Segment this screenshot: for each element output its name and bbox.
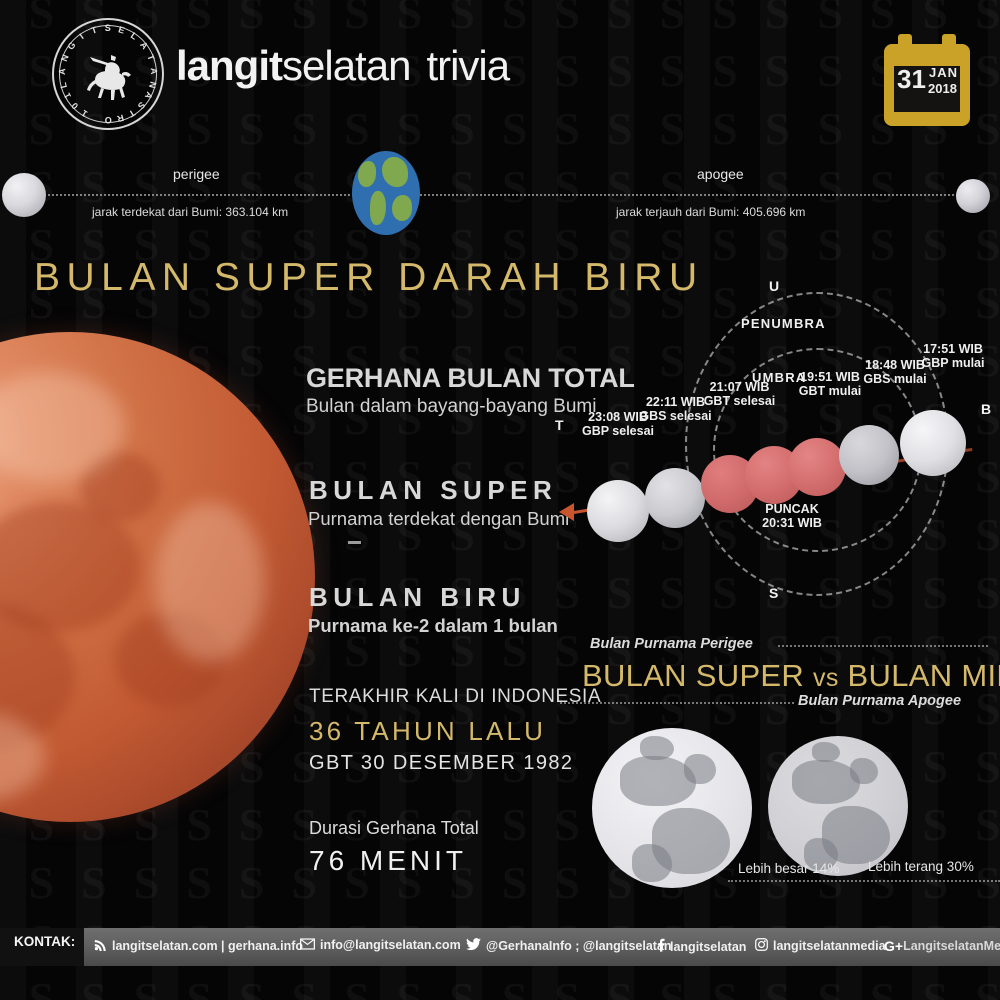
earth-landmass <box>358 161 376 187</box>
langitselatan-logo: LANGITSELATAN ASTRO 101 <box>52 18 164 130</box>
label-lebih-terang: Lebih terang 30% <box>868 859 974 874</box>
minimoon-graphic <box>768 736 908 876</box>
compare-labels-dotline <box>728 880 1000 882</box>
facebook-icon <box>657 938 665 955</box>
compare-title-right: BULAN MINI <box>848 658 1000 693</box>
marker-s: S <box>769 585 778 601</box>
logo-ring-char: A <box>143 90 155 101</box>
logo-ring-char: 1 <box>79 108 89 119</box>
footer-text-twitter: @GerhanaInfo ; @langitselatan <box>486 939 672 953</box>
calendar-body: 31 JAN 2018 <box>884 44 970 126</box>
logo-ring-char: T <box>127 108 137 120</box>
moon-phase-1848 <box>839 425 899 485</box>
feature-heading-bulan-super: BULAN SUPER <box>309 475 557 506</box>
orbit-dotted-line <box>36 194 966 196</box>
marker-u: U <box>769 278 779 294</box>
calendar-day: 31 <box>897 66 926 92</box>
phase-time-1751: 17:51 WIB <box>923 342 983 356</box>
perigee-apogee-band: perigee jarak terdekat dari Bumi: 363.10… <box>0 150 1000 242</box>
peak-time: 20:31 WIB <box>762 516 822 530</box>
compare-top-dotline <box>778 645 988 647</box>
earth-landmass <box>370 191 386 225</box>
footer-text-facebook: langitselatan <box>670 940 746 954</box>
mail-icon <box>300 938 315 953</box>
footer-item-website[interactable]: langitselatan.com | gerhana.info <box>94 938 303 954</box>
horse-rider-icon <box>81 49 135 101</box>
footer-text-website: langitselatan.com | gerhana.info <box>112 939 303 953</box>
calendar-year: 2018 <box>928 82 957 95</box>
phase-event-1751: GBP mulai <box>922 356 985 370</box>
compare-title-left: BULAN SUPER <box>582 658 804 693</box>
rss-icon <box>94 938 107 954</box>
brand-bold: langit <box>176 42 282 89</box>
logo-ring-char: 1 <box>62 91 73 101</box>
divider-dash <box>348 541 361 544</box>
label-lebih-besar: Lebih besar 14% <box>738 861 839 876</box>
perigee-distance: jarak terdekat dari Bumi: 363.104 km <box>92 205 288 219</box>
apogee-distance: jarak terjauh dari Bumi: 405.696 km <box>616 205 805 219</box>
footer-kontak-label: KONTAK: <box>14 934 75 949</box>
eclipse-path-diagram: U S T B PENUMBRA UMBRA 23:08 WIB GBP sel… <box>545 270 1000 615</box>
compare-title-vs: vs <box>813 664 839 692</box>
phase-time-2107: 21:07 WIB <box>710 380 770 394</box>
super-vs-mini-section: Bulan Purnama Perigee BULAN SUPER vs BUL… <box>560 636 1000 906</box>
marker-b: B <box>981 401 991 417</box>
compare-top-caption: Bulan Purnama Perigee <box>590 636 753 652</box>
logo-ring-char: R <box>116 113 125 125</box>
earth-icon <box>352 151 420 235</box>
footer-text-instagram: langitselatanmedia <box>773 939 886 953</box>
compare-bottom-caption: Bulan Purnama Apogee <box>798 693 961 709</box>
footer-text-email: info@langitselatan.com <box>320 938 461 952</box>
footer-item-twitter[interactable]: @GerhanaInfo ; @langitselatan <box>466 938 672 954</box>
apogee-label: apogee <box>697 166 744 182</box>
last-time-detail: GBT 30 DESEMBER 1982 <box>309 752 573 775</box>
logo-ring-char: O <box>104 115 112 125</box>
phase-event-2211: GBS selesai <box>639 409 711 423</box>
peak-text: PUNCAK <box>765 502 818 516</box>
apogee-moon-icon <box>956 179 990 213</box>
moon-phase-1751 <box>900 410 966 476</box>
feature-sub-bulan-super: Purnama terdekat dengan Bumi <box>308 508 569 530</box>
brand-trivia: trivia <box>426 42 509 89</box>
feature-heading-bulan-biru: BULAN BIRU <box>309 582 526 613</box>
compare-title: BULAN SUPER vs BULAN MINI <box>582 658 1000 694</box>
moon-phase-1951 <box>788 438 846 496</box>
feature-sub-bulan-biru: Purnama ke-2 dalam 1 bulan <box>308 615 558 637</box>
footer-item-googleplus[interactable]: G+LangitselatanMedia <box>884 938 1000 954</box>
perigee-label: perigee <box>173 166 220 182</box>
twitter-icon <box>466 938 481 954</box>
earth-landmass <box>382 157 408 187</box>
phase-event-1848: GBS mulai <box>863 372 926 386</box>
phase-label-1751: 17:51 WIB GBP mulai <box>903 342 1000 370</box>
calendar-month: JAN <box>929 66 958 79</box>
peak-label: PUNCAK 20:31 WIB <box>737 502 847 530</box>
moon-phase-2308 <box>587 480 649 542</box>
phase-event-1951: GBT mulai <box>799 384 862 398</box>
brand-wordmark: langitselatantrivia <box>176 42 509 90</box>
footer-item-email[interactable]: info@langitselatan.com <box>300 938 461 953</box>
instagram-icon <box>755 938 768 954</box>
footer-item-instagram[interactable]: langitselatanmedia <box>755 938 886 954</box>
duration-value: 76 MENIT <box>309 845 467 877</box>
last-time-caption: TERAKHIR KALI DI INDONESIA <box>309 686 601 708</box>
duration-caption: Durasi Gerhana Total <box>309 818 479 839</box>
header: LANGITSELATAN ASTRO 101 langitselatantri… <box>0 0 1000 148</box>
logo-ring-char: 0 <box>69 100 80 111</box>
footer-item-facebook[interactable]: langitselatan <box>657 938 746 955</box>
googleplus-icon: G+ <box>884 938 903 954</box>
phase-event-2107: GBT selesai <box>704 394 776 408</box>
calendar-icon: 31 JAN 2018 <box>884 34 970 126</box>
footer-text-googleplus: LangitselatanMedia <box>903 939 1000 953</box>
last-time-value: 36 TAHUN LALU <box>309 716 546 747</box>
perigee-moon-icon <box>2 173 46 217</box>
infographic-root: SSSSSSSSSSSSSSSSSSSSSSSSSSSSSSSSSSSSSSSS… <box>0 0 1000 1000</box>
phase-event-2308: GBP selesai <box>582 424 654 438</box>
penumbra-label: PENUMBRA <box>741 316 826 331</box>
brand-light: selatan <box>282 42 410 89</box>
supermoon-graphic <box>592 728 752 888</box>
moon-phase-2211 <box>645 468 705 528</box>
path-arrow-icon <box>559 503 574 521</box>
earth-landmass <box>392 195 412 221</box>
watermark-row: SSSSSSSSSSSSSSSSSSSSSSSSSS <box>0 976 1000 1000</box>
calendar-dots <box>894 116 960 121</box>
logo-ring-char: S <box>135 100 147 112</box>
phase-label-2107: 21:07 WIB GBT selesai <box>687 380 792 408</box>
compare-bottom-dotline <box>560 702 794 704</box>
